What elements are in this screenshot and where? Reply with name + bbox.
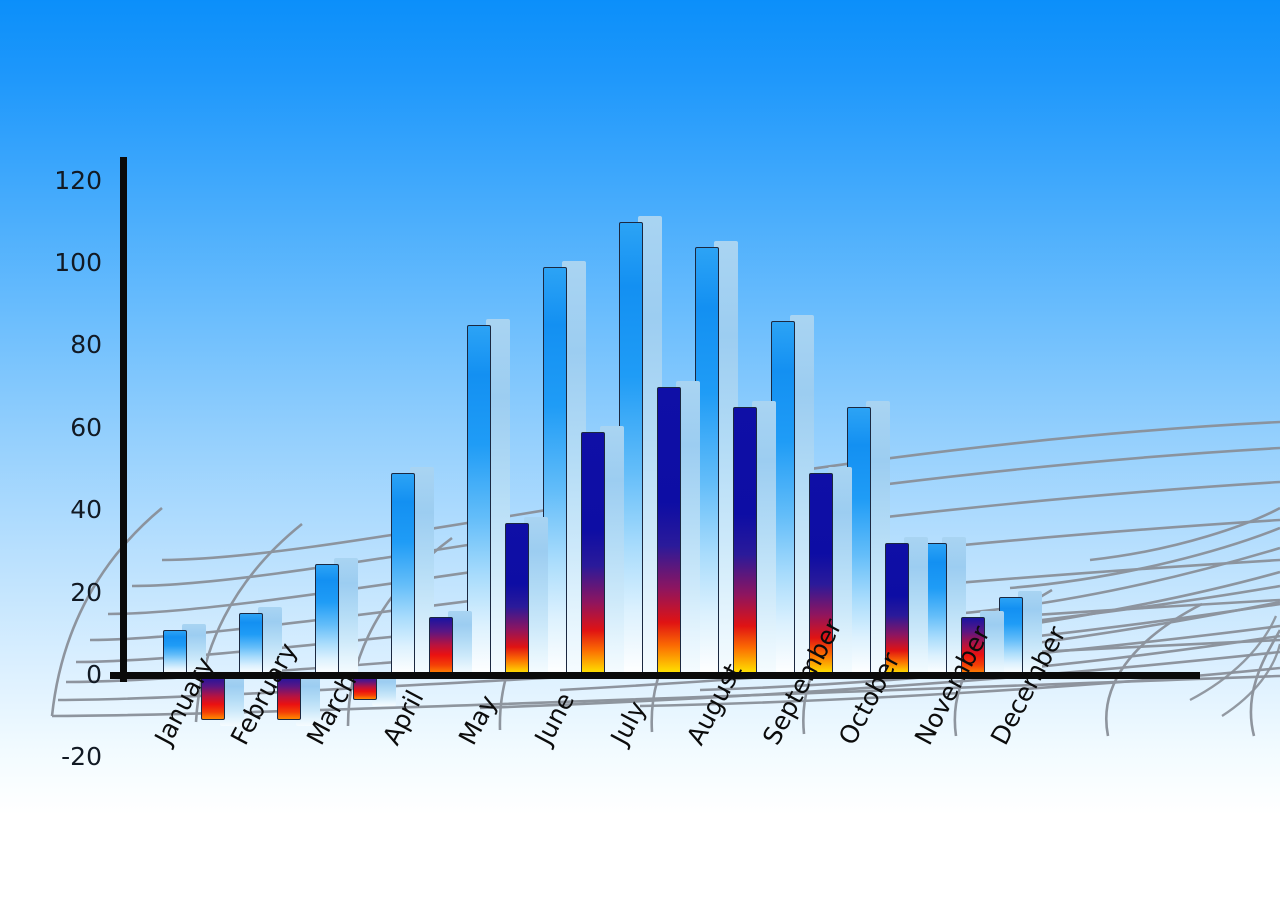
y-axis-line bbox=[120, 157, 127, 682]
bar-april-series-2[interactable] bbox=[429, 617, 453, 675]
y-tick-80: 80 bbox=[0, 330, 112, 359]
bar-march-series-1[interactable] bbox=[315, 564, 339, 675]
y-tick-120: 120 bbox=[0, 166, 112, 195]
y-tick-100: 100 bbox=[0, 248, 112, 277]
y-tick-0: 0 bbox=[0, 660, 112, 689]
bar-june-series-2[interactable] bbox=[581, 432, 605, 675]
y-tick-40: 40 bbox=[0, 495, 112, 524]
bar-february-series-1[interactable] bbox=[239, 613, 263, 675]
x-tick-may: May bbox=[453, 690, 503, 749]
y-tick-20: 20 bbox=[0, 578, 112, 607]
bar-july-series-2[interactable] bbox=[657, 387, 681, 675]
bar-may-series-2[interactable] bbox=[505, 523, 529, 675]
bar-august-series-2[interactable] bbox=[733, 407, 757, 675]
y-tick-60: 60 bbox=[0, 413, 112, 442]
x-tick-july: July bbox=[605, 696, 652, 749]
chart-canvas: 120100806040200-20 JanuaryFebruaryMarchA… bbox=[0, 0, 1280, 905]
plot-area: 120100806040200-20 JanuaryFebruaryMarchA… bbox=[0, 0, 1280, 905]
bar-january-series-1[interactable] bbox=[163, 630, 187, 675]
bar-april-series-1[interactable] bbox=[391, 473, 415, 675]
x-tick-june: June bbox=[529, 688, 580, 750]
y-tick--20: -20 bbox=[0, 742, 112, 771]
